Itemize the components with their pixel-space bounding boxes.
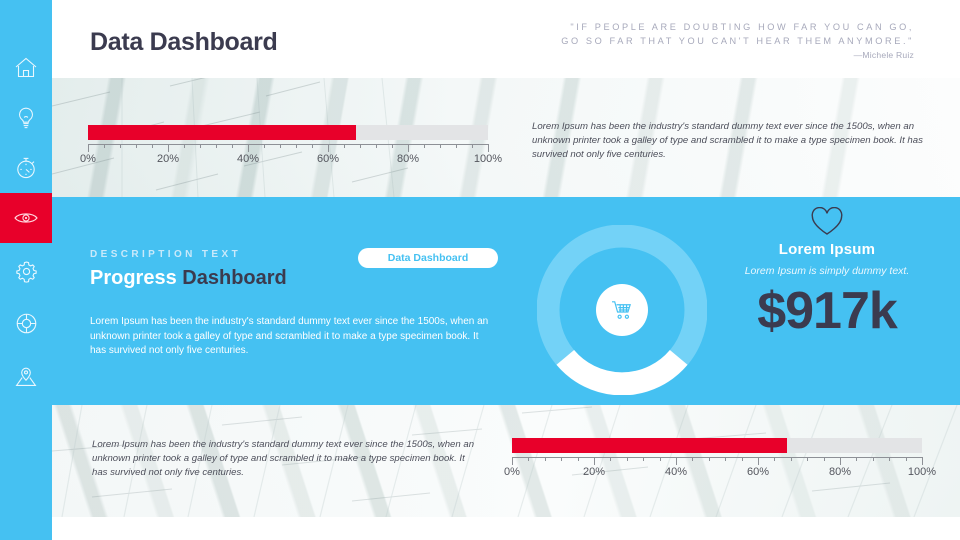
shopping-cart-icon <box>611 300 633 320</box>
sidebar-item-settings[interactable] <box>0 246 52 296</box>
top-photo-band: 0% 20% 40% 60% 80% 100% Lorem Ipsum has … <box>52 78 960 197</box>
lifebuoy-icon <box>13 310 40 337</box>
gauge-tick-label: 40% <box>665 466 687 478</box>
quote-block: "IF PEOPLE ARE DOUBTING HOW FAR YOU CAN … <box>494 20 914 60</box>
sidebar-item-timer[interactable] <box>0 143 52 193</box>
gauge-axis <box>88 144 488 152</box>
kpi-value: $917k <box>717 285 937 337</box>
map-pin-icon <box>12 363 40 391</box>
heading-word-dark: Dashboard <box>182 267 286 289</box>
data-dashboard-button[interactable]: Data Dashboard <box>358 248 498 268</box>
gauge-fill <box>512 438 787 453</box>
heart-icon <box>810 207 844 237</box>
kpi-title: Lorem Ipsum <box>717 241 937 258</box>
gauge-fill <box>88 125 356 140</box>
gauge-tick-label: 60% <box>747 466 769 478</box>
gauge-tick-label: 0% <box>504 466 520 478</box>
sidebar-item-home[interactable] <box>0 43 52 93</box>
bottom-band-paragraph: Lorem Ipsum has been the industry's stan… <box>92 438 477 480</box>
gauge-tick-label: 60% <box>317 153 339 165</box>
gauge-tick-label: 40% <box>237 153 259 165</box>
kpi-subtitle: Lorem Ipsum is simply dummy text. <box>717 265 937 277</box>
sidebar-item-ideas[interactable] <box>0 93 52 143</box>
description-label: DESCRIPTION TEXT <box>90 249 241 260</box>
stopwatch-icon <box>13 155 39 181</box>
eye-icon <box>12 204 40 232</box>
gear-icon <box>13 258 40 285</box>
blue-band-paragraph: Lorem Ipsum has been the industry's stan… <box>90 315 495 359</box>
quote-line-1: "IF PEOPLE ARE DOUBTING HOW FAR YOU CAN … <box>494 20 914 34</box>
sidebar-item-location[interactable] <box>0 352 52 402</box>
axis-line <box>512 457 922 458</box>
gauge-tick-label: 100% <box>474 153 502 165</box>
gauge-labels: 0% 20% 40% 60% 80% 100% <box>88 153 488 167</box>
slide-canvas: Data Dashboard "IF PEOPLE ARE DOUBTING H… <box>0 0 960 540</box>
top-band-paragraph: Lorem Ipsum has been the industry's stan… <box>532 120 932 162</box>
heading-word-white: Progress <box>90 267 177 289</box>
progress-donut-chart[interactable] <box>537 225 707 395</box>
gauge-tick-label: 100% <box>908 466 936 478</box>
home-icon <box>13 55 39 81</box>
quote-line-2: GO SO FAR THAT YOU CAN'T HEAR THEM ANYMO… <box>494 34 914 48</box>
donut-value-arc <box>565 357 678 383</box>
axis-line <box>88 144 488 145</box>
bottom-photo-band: Lorem Ipsum has been the industry's stan… <box>52 405 960 517</box>
gauge-tick-label: 0% <box>80 153 96 165</box>
gauge-tick-label: 20% <box>583 466 605 478</box>
quote-author: —Michele Ruiz <box>494 50 914 60</box>
lightbulb-icon <box>13 105 39 131</box>
donut-center-hub <box>596 284 648 336</box>
kpi-block: Lorem Ipsum Lorem Ipsum is simply dummy … <box>717 207 937 337</box>
gauge-axis <box>512 457 922 465</box>
gauge-tick-label: 80% <box>829 466 851 478</box>
gauge-tick-label: 80% <box>397 153 419 165</box>
gauge-labels: 0% 20% 40% 60% 80% 100% <box>512 466 922 480</box>
sidebar-item-support[interactable] <box>0 298 52 348</box>
blue-content-band: DESCRIPTION TEXT Progress Dashboard Data… <box>52 197 960 405</box>
page-title: Data Dashboard <box>90 28 278 57</box>
page-header: Data Dashboard "IF PEOPLE ARE DOUBTING H… <box>52 0 960 78</box>
sidebar-item-overview[interactable] <box>0 193 52 243</box>
gauge-tick-label: 20% <box>157 153 179 165</box>
section-heading: Progress Dashboard <box>90 267 287 290</box>
sidebar <box>0 0 52 540</box>
